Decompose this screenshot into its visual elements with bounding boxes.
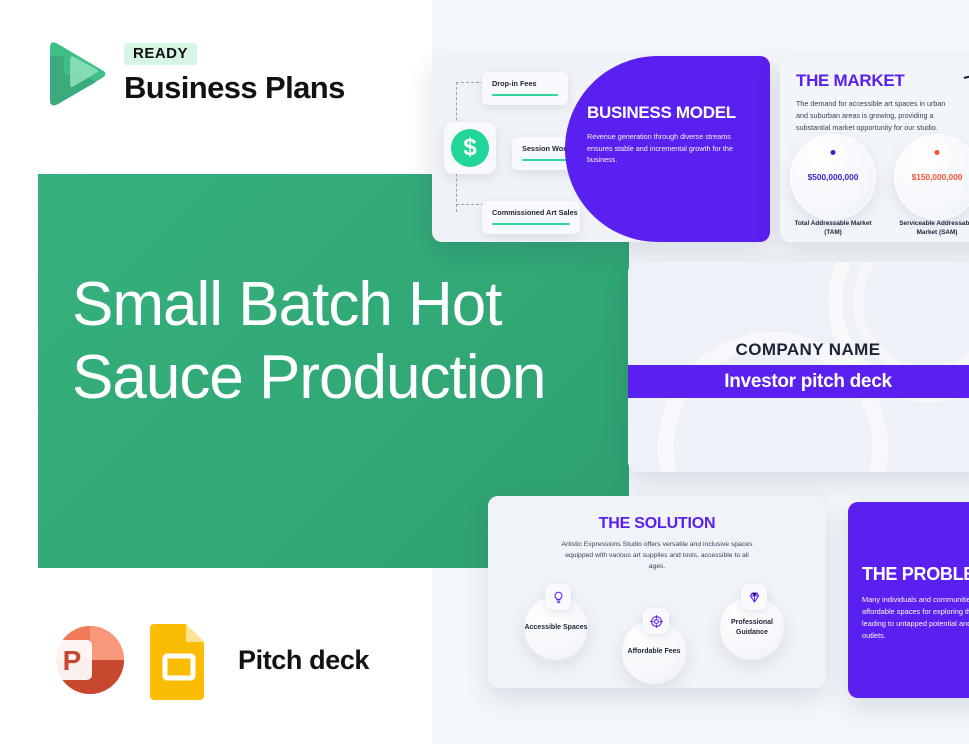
- slide-title: THE MARKET: [796, 71, 969, 91]
- pillar-label: Accessible Spaces: [524, 623, 587, 633]
- lightbulb-icon: [545, 584, 571, 610]
- market-metric-sam: $150,000,000 Serviceable Addressable Mar…: [894, 134, 969, 220]
- slide-the-problem[interactable]: THE PROBLEM Many individuals and communi…: [848, 502, 969, 698]
- solution-pillars: Accessible Spaces Affordable Fees Profes…: [488, 582, 826, 688]
- dollar-icon: $: [444, 122, 496, 174]
- revenue-chip-drop-in-fees[interactable]: Drop-in Fees: [482, 72, 568, 105]
- google-slides-icon[interactable]: [148, 620, 210, 700]
- slide-subtitle: Investor pitch deck: [724, 371, 891, 393]
- metric-value: $500,000,000: [808, 172, 859, 182]
- curved-arrow-icon: [962, 72, 969, 123]
- metric-dot-icon: [831, 150, 836, 155]
- revenue-chip-bar: [492, 223, 570, 225]
- revenue-chip-label: Drop-in Fees: [492, 79, 558, 88]
- company-name-label: COMPANY NAME: [628, 340, 969, 360]
- slide-description: Many individuals and communities lack ac…: [862, 594, 969, 642]
- svg-text:P: P: [63, 645, 82, 676]
- powerpoint-icon[interactable]: P: [42, 618, 126, 702]
- connector-line-bottom: [456, 204, 484, 205]
- slide-title: BUSINESS MODEL: [587, 104, 756, 122]
- slide-title: THE SOLUTION: [488, 515, 826, 533]
- revenue-chip-label: Commissioned Art Sales: [492, 208, 570, 217]
- diamond-icon: [741, 584, 767, 610]
- format-label: Pitch deck: [238, 645, 369, 676]
- page-title: Small Batch Hot Sauce Production: [72, 268, 602, 414]
- target-icon: [643, 608, 669, 634]
- metric-value: $150,000,000: [912, 172, 963, 182]
- slide-description: Artistic Expressions Studio offers versa…: [557, 539, 757, 573]
- slide-description: The demand for accessible art spaces in …: [796, 98, 951, 134]
- brand-logo[interactable]: READY Business Plans: [40, 34, 345, 112]
- market-metric-tam: $500,000,000 Total Addressable Market (T…: [790, 134, 876, 220]
- metric-caption: Serviceable Addressable Market (SAM): [894, 220, 969, 238]
- revenue-chip-commissioned-art-sales[interactable]: Commissioned Art Sales: [482, 201, 580, 234]
- pillar-label: Affordable Fees: [628, 647, 681, 657]
- market-metrics: $500,000,000 Total Addressable Market (T…: [780, 134, 969, 220]
- business-model-panel: BUSINESS MODEL Revenue generation throug…: [565, 56, 770, 242]
- format-row: P Pitch deck: [42, 618, 369, 702]
- slide-description: Revenue generation through diverse strea…: [587, 131, 756, 166]
- slide-the-solution[interactable]: THE SOLUTION Artistic Expressions Studio…: [488, 496, 826, 688]
- brand-name: Business Plans: [124, 72, 345, 103]
- pillar-label: Professional Guidance: [720, 618, 784, 638]
- brand-text: READY Business Plans: [124, 43, 345, 103]
- play-triangle-logo-icon: [40, 34, 112, 112]
- revenue-chip-bar: [492, 94, 558, 96]
- connector-line-top: [456, 82, 484, 83]
- metric-caption: Total Addressable Market (TAM): [790, 220, 876, 238]
- investor-pitch-deck-band: Investor pitch deck: [628, 365, 969, 398]
- ready-badge: READY: [124, 43, 197, 65]
- slide-title: THE PROBLEM: [862, 564, 969, 585]
- slide-business-model[interactable]: Drop-in Fees Session Workshops Commissio…: [432, 56, 770, 242]
- slide-the-market[interactable]: THE MARKET The demand for accessible art…: [780, 56, 969, 242]
- page-root: READY Business Plans Small Batch Hot Sau…: [0, 0, 969, 744]
- slide-company-name[interactable]: COMPANY NAME Investor pitch deck: [628, 262, 969, 472]
- metric-dot-icon: [935, 150, 940, 155]
